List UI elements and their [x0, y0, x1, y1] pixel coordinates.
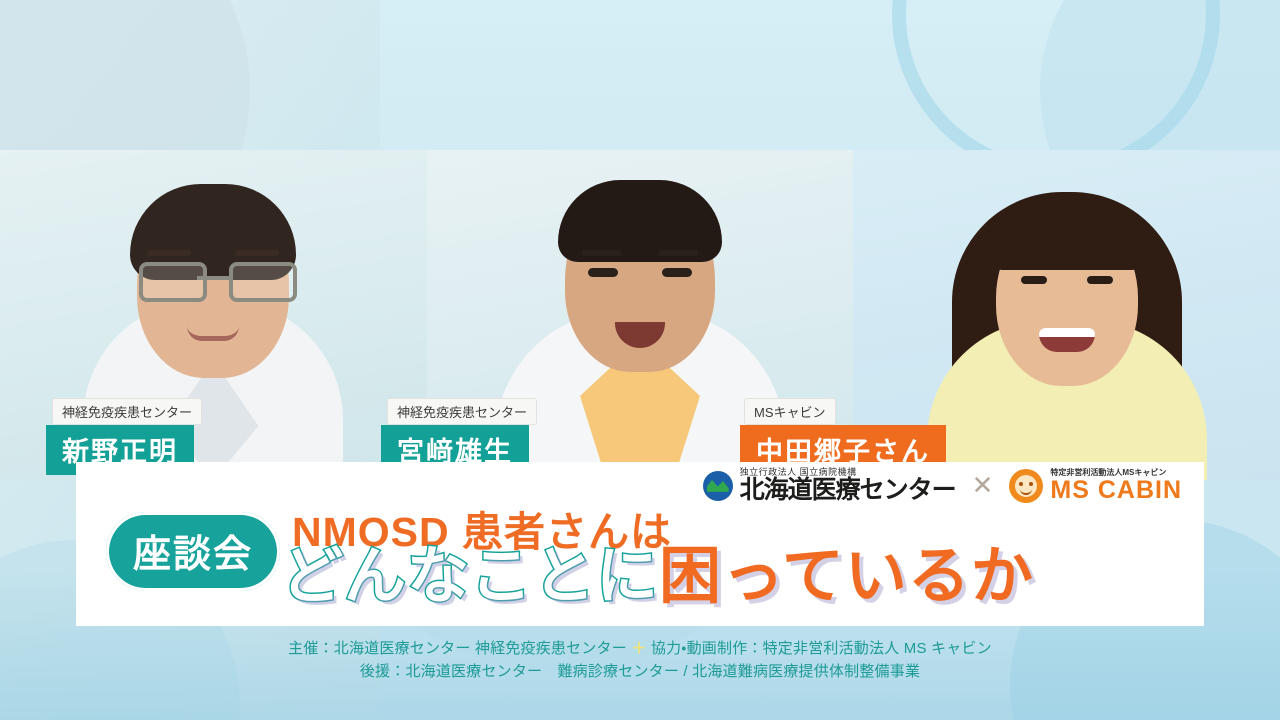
banner-headline-main: どんなことに困っているか — [281, 546, 1034, 608]
lecturer-org: 神経免疫疾患センター — [1000, 90, 1202, 114]
badge-year: 2024 — [92, 57, 218, 112]
ms-cabin-logo: 特定非営利活動法人MSキャビン MS CABIN — [1009, 469, 1182, 504]
title-eyebrow: 視神経脊髄炎スペクトラム障害 NMOSD 患者さんの — [262, 44, 982, 89]
person-eyebrow — [582, 250, 622, 256]
page-title: お困りごとを共有する — [262, 91, 982, 151]
footer-credits: 主催：北海道医療センター 神経免疫疾患センター ＋ 協力・動画制作：特定非営利活… — [0, 638, 1280, 683]
title-banner: 2024 秋の講演 視神経脊髄炎スペクトラム障害 NMOSD 患者さんの お困り… — [0, 0, 1280, 182]
title-block: 視神経脊髄炎スペクトラム障害 NMOSD 患者さんの お困りごとを共有する — [262, 44, 982, 151]
badge-season: 秋の講演 — [87, 122, 223, 155]
person-mouth — [1039, 328, 1095, 352]
section-pill: 座談会 — [106, 512, 280, 591]
banner-part-teal: どんなことに — [281, 542, 659, 611]
person-eyebrow — [235, 250, 279, 256]
topic-banner: 独立行政法人 国立病院機構 北海道医療センター ✕ 特定非営利活動法人MSキャビ… — [76, 462, 1204, 626]
logo-row: 独立行政法人 国立病院機構 北海道医療センター ✕ 特定非営利活動法人MSキャビ… — [703, 468, 1182, 504]
hospital-mark-icon — [703, 471, 733, 501]
person-teeth — [1039, 328, 1095, 337]
footer-cooperation: 協力・動画制作：特定非営利活動法人 MS キャビン — [651, 640, 992, 657]
glasses-icon — [229, 262, 297, 302]
title-part-orange: 共有する — [610, 88, 842, 152]
hospital-logo: 独立行政法人 国立病院機構 北海道医療センター — [703, 468, 956, 504]
title-eyebrow-big: NMOSD 患者さんの — [624, 52, 909, 87]
nameplate-org: 神経免疫疾患センター — [387, 398, 537, 425]
footer-host: 主催：北海道医療センター 神経免疫疾患センター — [288, 640, 627, 657]
nameplate-org: MSキャビン — [744, 398, 836, 425]
glasses-icon — [139, 262, 207, 302]
footer-plus: ＋ — [631, 640, 646, 657]
season-badge: 2024 秋の講演 — [56, 32, 254, 180]
footer-line-1: 主催：北海道医療センター 神経免疫疾患センター ＋ 協力・動画制作：特定非営利活… — [0, 638, 1280, 661]
person-eye — [1087, 276, 1113, 284]
title-eyebrow-small: 視神経脊髄炎スペクトラム障害 — [262, 58, 617, 86]
lecturer-credit: 神経免疫疾患センター 宮﨑雄生 先生 — [1000, 90, 1202, 156]
ms-cabin-logo-main: MS CABIN — [1050, 477, 1182, 503]
person-eyebrow — [658, 250, 698, 256]
person-eye — [588, 268, 618, 277]
title-part-teal: お困りごとを — [262, 88, 610, 152]
sun-face-icon — [1009, 469, 1043, 503]
cross-icon: ✕ — [972, 470, 994, 501]
person-eyebrow — [147, 250, 191, 256]
slide-stage: 2024 秋の講演 視神経脊髄炎スペクトラム障害 NMOSD 患者さんの お困り… — [0, 0, 1280, 720]
footer-line-2: 後援：北海道医療センター 難病診療センター / 北海道難病医療提供体制整備事業 — [0, 661, 1280, 684]
person-mouth — [187, 326, 239, 341]
banner-part-orange: 困っているか — [659, 542, 1034, 611]
nameplate-org: 神経免疫疾患センター — [52, 398, 202, 425]
person-hair-front — [988, 200, 1146, 270]
hospital-logo-main: 北海道医療センター — [740, 477, 956, 503]
lecturer-name: 宮﨑雄生 先生 — [1000, 117, 1202, 156]
glasses-bridge — [197, 276, 229, 280]
person-eye — [662, 268, 692, 277]
person-eye — [1021, 276, 1047, 284]
